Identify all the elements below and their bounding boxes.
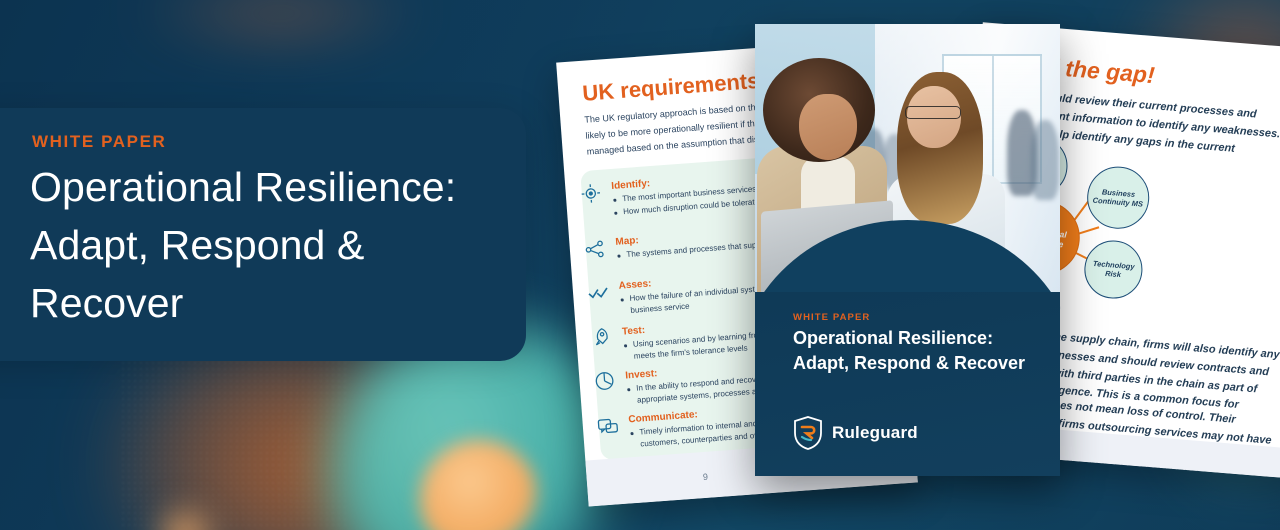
diagram-node-business-continuity: Business Continuity MS: [1085, 164, 1152, 231]
cover-photo: [755, 24, 1060, 292]
left-page-number: 9: [703, 472, 709, 482]
document-cover: WHITE PAPER Operational Resilience: Adap…: [755, 24, 1060, 476]
background-person: [1031, 120, 1059, 200]
glasses-icon: [905, 106, 961, 119]
checkmarks-icon: [586, 281, 610, 305]
target-icon: [579, 182, 603, 206]
cover-title: Operational Resilience: Adapt, Respond &…: [793, 326, 1043, 376]
cover-logo: Ruleguard: [793, 416, 918, 450]
person-a-face: [799, 94, 857, 160]
headline-card: WHITE PAPER Operational Resilience: Adap…: [0, 108, 526, 361]
shield-logo-icon: [793, 416, 823, 450]
document-cluster: Mind the gap! Firms should review their …: [540, 0, 1280, 530]
rocket-icon: [590, 325, 614, 349]
hero-banner: Mind the gap! Firms should review their …: [0, 0, 1280, 530]
cover-eyebrow: WHITE PAPER: [793, 312, 870, 323]
network-icon: [583, 238, 607, 262]
diagram-node-technology-risk: Technology Risk: [1082, 238, 1144, 300]
page-title: Operational Resilience: Adapt, Respond &…: [30, 158, 500, 333]
cover-logo-text: Ruleguard: [832, 423, 918, 443]
chat-bubbles-icon: [596, 415, 620, 439]
hero-eyebrow: WHITE PAPER: [32, 132, 166, 152]
pie-chart-icon: [593, 369, 617, 393]
